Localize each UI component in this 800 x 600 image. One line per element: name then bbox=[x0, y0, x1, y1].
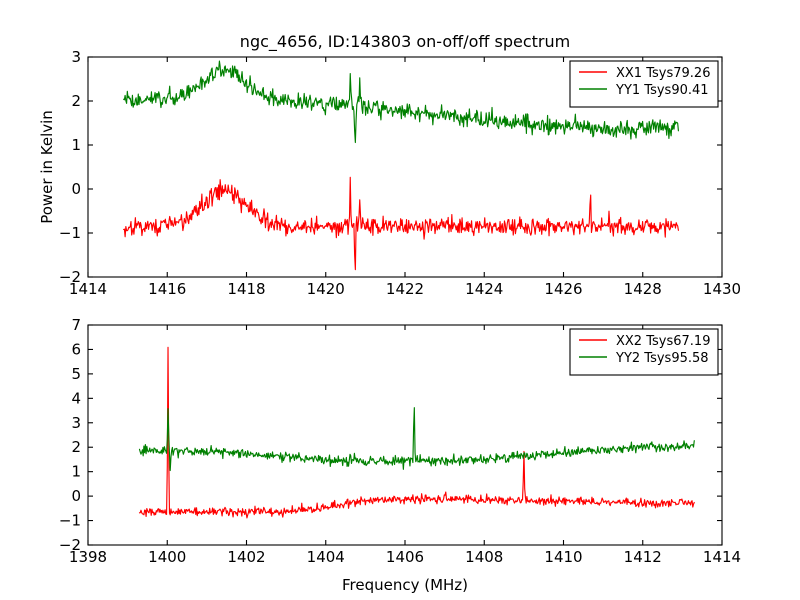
y-tick-label: 7 bbox=[71, 316, 81, 334]
y-tick-label: 3 bbox=[71, 414, 81, 432]
x-tick-label: 1406 bbox=[386, 548, 424, 566]
y-tick-label: 3 bbox=[71, 48, 81, 66]
x-tick-label: 1424 bbox=[465, 280, 503, 298]
x-tick-label: 1408 bbox=[465, 548, 503, 566]
x-tick-label: 1426 bbox=[544, 280, 582, 298]
y-tick-label: 0 bbox=[71, 180, 81, 198]
y-tick-label: −2 bbox=[59, 268, 81, 286]
x-tick-label: 1416 bbox=[148, 280, 186, 298]
trace-yy2 bbox=[140, 408, 695, 471]
x-tick-label: 1422 bbox=[386, 280, 424, 298]
x-tick-label: 1428 bbox=[624, 280, 662, 298]
x-tick-label: 1414 bbox=[703, 548, 741, 566]
y-axis-label: Power in Kelvin bbox=[38, 110, 56, 224]
y-tick-label: 2 bbox=[71, 438, 81, 456]
x-axis-label: Frequency (MHz) bbox=[342, 576, 468, 594]
matplotlib-canvas: 141414161418142014221424142614281430−2−1… bbox=[0, 0, 800, 600]
legend-label: YY1 Tsys90.41 bbox=[615, 83, 709, 98]
legend-top: XX1 Tsys79.26YY1 Tsys90.41 bbox=[570, 61, 718, 107]
legend-label: YY2 Tsys95.58 bbox=[615, 351, 709, 366]
y-tick-label: 1 bbox=[71, 463, 81, 481]
trace-xx1 bbox=[124, 177, 679, 269]
y-tick-label: 4 bbox=[71, 389, 81, 407]
x-tick-label: 1420 bbox=[307, 280, 345, 298]
x-tick-label: 1412 bbox=[624, 548, 662, 566]
y-tick-label: 2 bbox=[71, 92, 81, 110]
y-tick-label: 6 bbox=[71, 340, 81, 358]
x-tick-label: 1400 bbox=[148, 548, 186, 566]
x-tick-label: 1410 bbox=[544, 548, 582, 566]
legend-label: XX2 Tsys67.19 bbox=[616, 334, 710, 349]
y-tick-label: 1 bbox=[71, 136, 81, 154]
legend-bottom: XX2 Tsys67.19YY2 Tsys95.58 bbox=[570, 329, 718, 375]
legend-label: XX1 Tsys79.26 bbox=[616, 66, 710, 81]
x-tick-label: 1404 bbox=[307, 548, 345, 566]
y-tick-label: −2 bbox=[59, 536, 81, 554]
y-tick-label: −1 bbox=[59, 224, 81, 242]
x-tick-label: 1430 bbox=[703, 280, 741, 298]
y-tick-label: 5 bbox=[71, 365, 81, 383]
x-tick-label: 1418 bbox=[227, 280, 265, 298]
plot-panel-bottom: 139814001402140414061408141014121414−2−1… bbox=[59, 316, 741, 594]
spectrum-figure: 141414161418142014221424142614281430−2−1… bbox=[0, 0, 800, 600]
y-tick-label: −1 bbox=[59, 512, 81, 530]
x-tick-label: 1402 bbox=[227, 548, 265, 566]
plot-title: ngc_4656, ID:143803 on-off/off spectrum bbox=[240, 32, 570, 52]
y-tick-label: 0 bbox=[71, 487, 81, 505]
plot-panel-top: 141414161418142014221424142614281430−2−1… bbox=[38, 32, 741, 298]
